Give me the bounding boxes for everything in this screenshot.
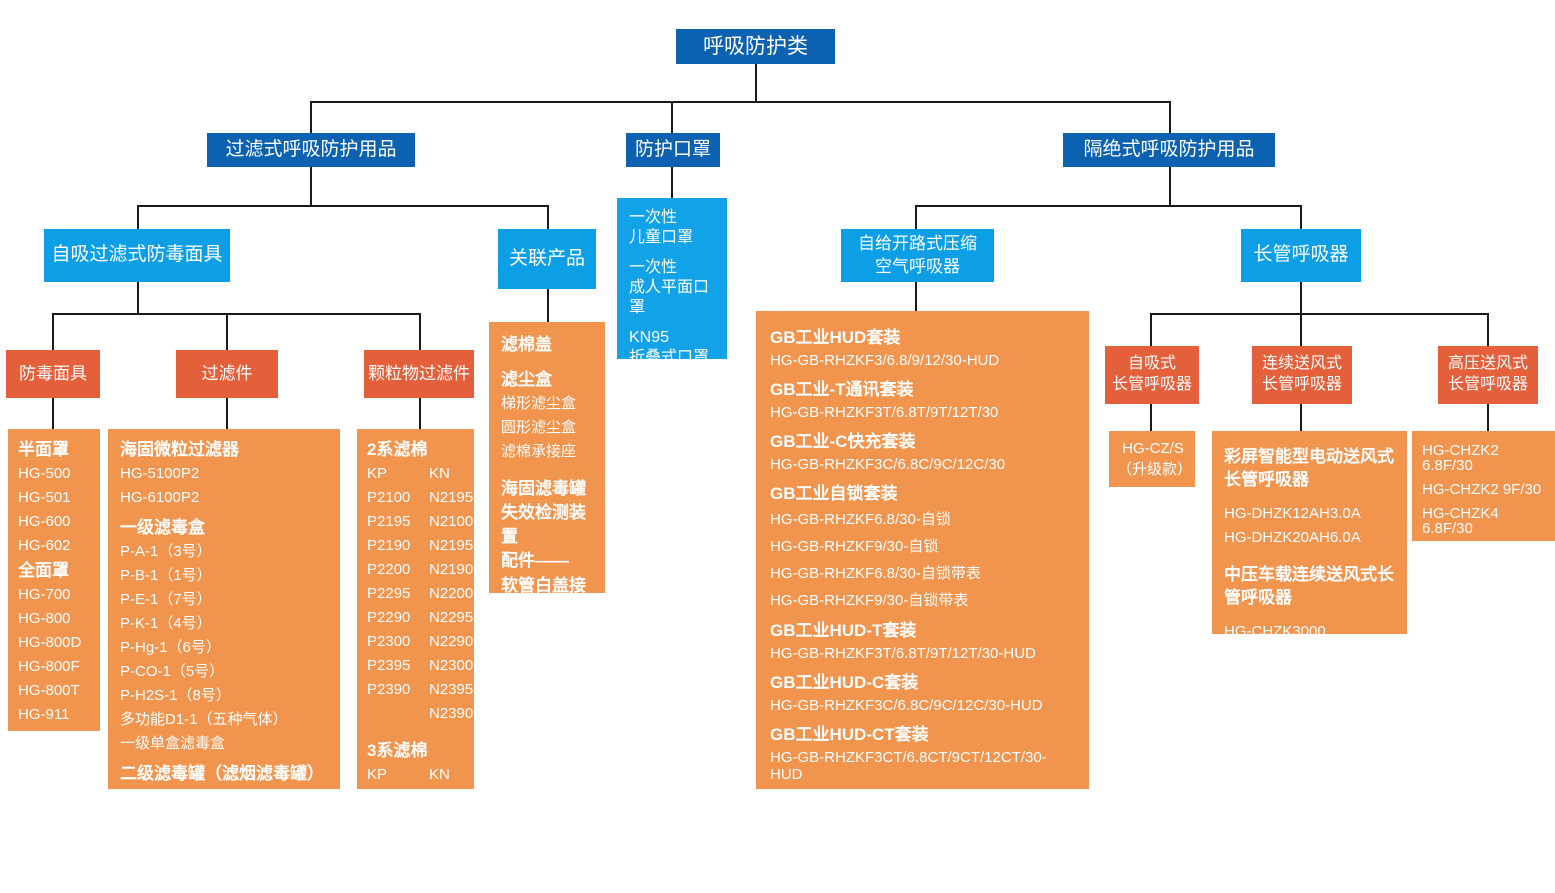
node-isolation-label: 隔绝式呼吸防护用品 [1083, 138, 1254, 163]
node-self-suction-label: 自吸过滤式防毒面具 [51, 243, 222, 268]
mask-item: KN95 折叠式口罩 [629, 328, 717, 368]
panel-item: N2100 [429, 514, 482, 529]
cotton-column-kp: KP P2100 P2195 P2190 P2200 P2295 P2290 P… [367, 466, 429, 730]
panel-item: P2190 [367, 538, 429, 553]
node-particulate-label: 颗粒物过滤件 [368, 363, 470, 385]
node-filtration-label: 过滤式呼吸防护用品 [225, 138, 396, 163]
node-high-pressure-label: 高压送风式 长管呼吸器 [1448, 354, 1528, 396]
node-root[interactable]: 呼吸防护类 [676, 29, 835, 64]
node-continuous-label: 连续送风式 长管呼吸器 [1262, 354, 1342, 396]
panel-item: HG-GB-RHZKF3C/6.8C/9C/12C/30 [770, 456, 1075, 473]
panel-item: HG-GB-RHZKF9/30-自锁 [770, 535, 1075, 556]
panel-item: P-CO-1（5号） [120, 664, 332, 679]
connector-isolation-drop-b [1300, 205, 1302, 229]
panel-group-header: GB工业双瓶/他救套装 [770, 789, 1075, 814]
panel-item: HG-DHZK20AH6.0A [1224, 530, 1397, 545]
panel-item: HG-CHZK4 6.8F/30 [1422, 506, 1547, 536]
connector-gasmask-drop-b [226, 313, 228, 350]
node-root-label: 呼吸防护类 [703, 33, 808, 60]
node-gas-mask[interactable]: 防毒面具 [6, 350, 100, 398]
node-filter-element[interactable]: 过滤件 [176, 350, 278, 398]
connector-filtration-bus [137, 205, 548, 207]
panel-self-suction-models[interactable]: HG-CZ/S （升级款） [1109, 431, 1195, 487]
node-particulate-filter[interactable]: 颗粒物过滤件 [364, 350, 474, 398]
panel-cotton-models[interactable]: 2系滤棉 KP P2100 P2195 P2190 P2200 P2295 P2… [357, 429, 474, 789]
panel-item: P2200 [367, 562, 429, 577]
connector-gasmask-drop-c [419, 313, 421, 350]
connector-related-stem [547, 289, 549, 322]
node-mask-label: 防护口罩 [635, 138, 711, 163]
column-header: KP [367, 767, 429, 782]
panel-item: HG-GB-RHZKF6.8/9/30-双瓶 [770, 845, 1075, 866]
panel-item: 梯形滤尘盒 [501, 396, 597, 411]
panel-item: HG-500 [18, 466, 92, 481]
panel-item: 多功能D1-1（五种气体） [120, 712, 332, 727]
connector-isolation-drop-a [915, 205, 917, 229]
mask-item: 一次性 成人平面口罩 [629, 258, 717, 318]
panel-related-products[interactable]: 滤棉盖 滤尘盒 梯形滤尘盒 圆形滤尘盒 滤棉承接座 海固滤毒罐 失效检测装置 配… [489, 322, 605, 593]
panel-item: 滤棉承接座 [501, 444, 597, 459]
panel-group-header: 半面罩 [18, 441, 92, 458]
panel-group-header: 海固滤毒罐 失效检测装置 配件—— 软管白盖接口 [501, 477, 597, 622]
panel-item: P2300 [367, 634, 429, 649]
node-related-label: 关联产品 [509, 247, 585, 272]
panel-item: HG-602 [18, 538, 92, 553]
node-filtration-products[interactable]: 过滤式呼吸防护用品 [207, 133, 415, 167]
panel-group-header: GB工业-C快充套装 [770, 427, 1075, 452]
panel-item: P-A-1（3号） [120, 544, 332, 559]
connector-tube-drop-c [1487, 313, 1489, 346]
panel-item: P2395 [367, 658, 429, 673]
connector-isolation-stem [1169, 166, 1171, 205]
panel-item: HG-GB-RHZKF3CT/6.8CT/9CT/12CT/30-HUD [770, 749, 1075, 783]
connector-gasmask-bus [52, 313, 419, 315]
panel-item: P-K-1（4号） [120, 616, 332, 631]
connector-leaf-cotton [419, 398, 421, 429]
panel-item: N2295 [429, 610, 482, 625]
panel-item: HG-GB-RHZKF6.8/9/30-他救 [770, 818, 1075, 839]
panel-group-header: 中压车载连续送风式长 管呼吸器 [1224, 563, 1397, 610]
panel-item: HG-GB-RHZKF3/6.8/9/12/30-HUD [770, 352, 1075, 369]
cotton-column-kp-2: KP [367, 767, 429, 791]
mask-item: 一次性 儿童口罩 [629, 208, 717, 248]
panel-item: HG-CHZK2 6.8F/30 [1422, 443, 1547, 473]
panel-item: P2295 [367, 586, 429, 601]
panel-item: HG-6100P2 [120, 490, 332, 505]
panel-group-header: GB工业自锁套装 [770, 479, 1075, 504]
panel-high-pressure-models[interactable]: HG-CHZK2 6.8F/30 HG-CHZK2 9F/30 HG-CHZK4… [1412, 431, 1555, 541]
panel-group-header: 全面罩 [18, 562, 92, 579]
cotton-columns-2: KP KN [367, 767, 468, 791]
node-high-pressure-tube[interactable]: 高压送风式 长管呼吸器 [1438, 346, 1538, 404]
connector-level1-drop-a [310, 101, 312, 134]
panel-item: N2200 [429, 586, 482, 601]
panel-item: HG-911 [18, 707, 92, 722]
panel-group-header: GB工业HUD-C套装 [770, 668, 1075, 693]
panel-item: 一级单盒滤毒盒 [120, 736, 332, 751]
panel-item: HG-GB-RHZKF3C/6.8C/9C/12C/30-HUD [770, 697, 1075, 714]
panel-continuous-models[interactable]: 彩屏智能型电动送风式 长管呼吸器 HG-DHZK12AH3.0A HG-DHZK… [1212, 431, 1407, 634]
column-header: KP [367, 466, 429, 481]
node-protective-mask[interactable]: 防护口罩 [626, 133, 720, 167]
panel-item: N2195d [429, 490, 482, 505]
panel-item: N2190 [429, 562, 482, 577]
panel-item: N2395 [429, 682, 482, 697]
panel-item: HG-CHZK4 9F/30 [1422, 545, 1547, 560]
panel-item: 圆形滤尘盒 [501, 420, 597, 435]
panel-item: P-Hg-1（6号） [120, 640, 332, 655]
panel-mask-list[interactable]: 一次性 儿童口罩 一次性 成人平面口罩 KN95 折叠式口罩 [617, 198, 727, 359]
panel-group-header: 一级滤毒盒 [120, 519, 332, 536]
panel-item: HG-800T [18, 683, 92, 698]
connector-tube-drop-b [1300, 313, 1302, 346]
connector-level1-drop-c [1169, 101, 1171, 134]
connector-isolation-bus [915, 205, 1301, 207]
connector-level1-bus [310, 101, 1170, 103]
panel-group-header: 滤棉盖 [501, 336, 597, 353]
panel-item: P2100 [367, 490, 429, 505]
panel-group-header: GB工业HUD套装 [770, 323, 1075, 348]
panel-item: HG-600 [18, 514, 92, 529]
node-self-suction-gasmask[interactable]: 自吸过滤式防毒面具 [44, 229, 230, 282]
panel-item: N2390 [429, 706, 482, 721]
panel-item-empty [367, 706, 429, 721]
panel-item: N2290 [429, 634, 482, 649]
node-scba-label: 自给开路式压缩 空气呼吸器 [858, 233, 977, 277]
panel-group-header: 二级滤毒罐（滤烟滤毒罐） [120, 765, 332, 782]
connector-leaf-filters [226, 398, 228, 429]
connector-tube-bus [1150, 313, 1488, 315]
panel-item: P2195 [367, 514, 429, 529]
connector-filtration-stem [310, 166, 312, 205]
node-long-tube-label: 长管呼吸器 [1253, 243, 1348, 268]
cotton-column-kn: KN N2195d N2100 N2195 N2190 N2200 N2295 … [429, 466, 482, 730]
node-isolation-products[interactable]: 隔绝式呼吸防护用品 [1063, 133, 1275, 167]
panel-item: HG-GB-RHZKF9/30-自锁带表 [770, 589, 1075, 610]
column-header: KN [429, 466, 482, 481]
column-header: KN [429, 767, 450, 782]
connector-leaf-selfsuction [1150, 404, 1152, 431]
node-filter-element-label: 过滤件 [202, 363, 253, 385]
connector-root-stem [755, 63, 757, 101]
connector-gasmask-drop-a [52, 313, 54, 350]
node-self-suction-tube-label: 自吸式 长管呼吸器 [1112, 354, 1192, 396]
panel-gb-scba-models[interactable]: GB工业HUD套装 HG-GB-RHZKF3/6.8/9/12/30-HUD G… [756, 311, 1089, 789]
panel-item: HG-GB-RHZKF3T/6.8T/9T/12T/30-HUD [770, 645, 1075, 662]
panel-item: N2195 [429, 538, 482, 553]
panel-item: HG-CHZK3000 [1224, 624, 1397, 639]
panel-item: HG-800D [18, 635, 92, 650]
connector-level1-drop-b [671, 101, 673, 134]
connector-leaf-continuous [1300, 404, 1302, 431]
connector-tube-stem [1300, 281, 1302, 313]
panel-group-header: GB工业HUD-CT套装 [770, 720, 1075, 745]
panel-item: HG-CHZK2 9F/30 [1422, 482, 1547, 497]
panel-item: P2390 [367, 682, 429, 697]
panel-filter-models[interactable]: 海固微粒过滤器 HG-5100P2 HG-6100P2 一级滤毒盒 P-A-1（… [108, 429, 340, 789]
cotton-column-kn-2: KN [429, 767, 450, 791]
panel-group-header: 2系滤棉 [367, 441, 468, 458]
panel-item: HG-CZ/S [1117, 441, 1189, 456]
panel-group-header: GB工业HUD-T套装 [770, 616, 1075, 641]
connector-leaf-highpressure [1487, 404, 1489, 431]
panel-item: HG-GB-RHZKF6.8/30-自锁 [770, 508, 1075, 529]
node-gas-mask-label: 防毒面具 [19, 363, 87, 385]
connector-leaf-gasmask [52, 398, 54, 429]
panel-item: HG-GB-RHZKF6.8/30-自锁带表 [770, 562, 1075, 583]
panel-gasmask-models[interactable]: 半面罩 HG-500 HG-501 HG-600 HG-602 全面罩 HG-7… [8, 429, 100, 731]
panel-item: P-E-1（7号） [120, 592, 332, 607]
panel-item: P-B-1（1号） [120, 568, 332, 583]
node-related-products[interactable]: 关联产品 [498, 229, 596, 289]
panel-item: HG-GB-RHZKF3T/6.8T/9T/12T/30 [770, 404, 1075, 421]
panel-item: N2300 [429, 658, 482, 673]
panel-group-header: GB工业-T通讯套装 [770, 375, 1075, 400]
node-long-tube-respirator[interactable]: 长管呼吸器 [1241, 229, 1361, 282]
panel-item: HG-800 [18, 611, 92, 626]
panel-item: HG-GB-RHZKF6.8/9/30-双瓶他救 [770, 872, 1075, 893]
connector-scba-stem [915, 281, 917, 311]
connector-tube-drop-a [1150, 313, 1152, 346]
node-continuous-air-tube[interactable]: 连续送风式 长管呼吸器 [1252, 346, 1352, 404]
panel-item: HG-800F [18, 659, 92, 674]
panel-item: HG-700 [18, 587, 92, 602]
panel-item: HG-DHZK12AH3.0A [1224, 506, 1397, 521]
panel-item: P2290 [367, 610, 429, 625]
panel-group-header: 滤尘盒 [501, 371, 597, 388]
node-scba[interactable]: 自给开路式压缩 空气呼吸器 [841, 229, 994, 282]
cotton-columns: KP P2100 P2195 P2190 P2200 P2295 P2290 P… [367, 466, 468, 730]
org-chart-canvas: 呼吸防护类 过滤式呼吸防护用品 防护口罩 隔绝式呼吸防护用品 自吸过滤式防毒面具… [0, 0, 1555, 789]
panel-item: （升级款） [1117, 462, 1189, 477]
panel-item: HG-501 [18, 490, 92, 505]
panel-group-header: 彩屏智能型电动送风式 长管呼吸器 [1224, 445, 1397, 492]
connector-filtration-drop-a [137, 205, 139, 229]
node-self-suction-tube[interactable]: 自吸式 长管呼吸器 [1105, 346, 1199, 404]
connector-filtration-drop-b [547, 205, 549, 229]
panel-group-header: 海固微粒过滤器 [120, 441, 332, 458]
connector-mask-stem [671, 166, 673, 198]
panel-item: HG-5100P2 [120, 466, 332, 481]
connector-gasmask-stem [137, 281, 139, 313]
panel-group-header: 3系滤棉 [367, 742, 468, 759]
panel-item: P-H2S-1（8号） [120, 688, 332, 703]
